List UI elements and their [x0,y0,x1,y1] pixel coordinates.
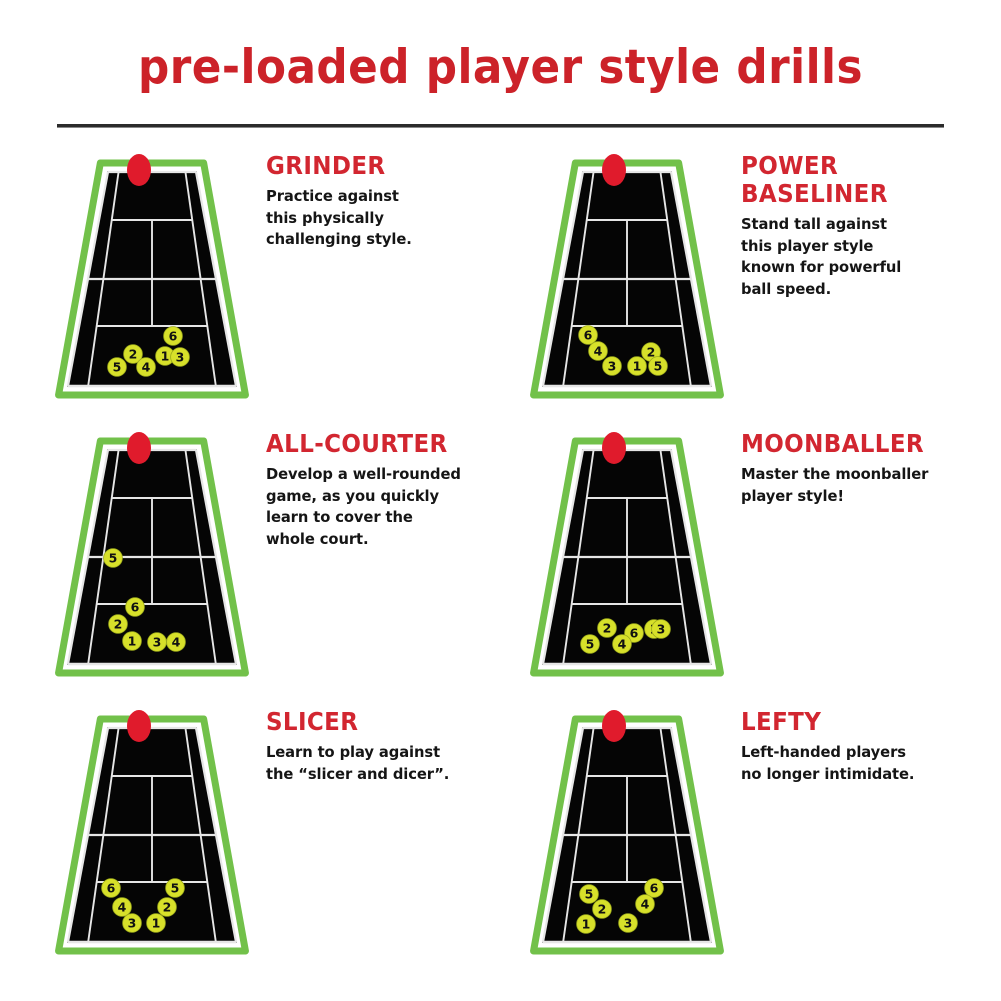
ball-marker: 4 [613,635,632,654]
ball-number: 3 [153,635,162,650]
ball-number: 3 [624,916,633,931]
court-power-baseliner[interactable]: 642315 [530,154,730,394]
drill-description-slicer: Learn to play against the “slicer and di… [266,742,494,785]
drill-heading-all-courter: ALL-COURTER [266,430,487,458]
ball-marker: 5 [649,357,668,376]
ball-marker: 3 [148,633,167,652]
ball-marker: 5 [166,879,185,898]
ball-number: 6 [584,328,593,343]
ball-number: 5 [654,359,663,374]
drill-card-slicer[interactable]: 654231SLICERLearn to play against the “s… [40,702,510,977]
ball-number: 5 [113,360,122,375]
ball-marker: 4 [589,342,608,361]
drill-heading-lefty: LEFTY [741,708,962,736]
ball-number: 4 [594,344,603,359]
court-slicer[interactable]: 654231 [55,710,255,950]
tennis-court-diagram: 621354 [55,154,255,394]
ball-number: 6 [630,626,639,641]
ball-number: 5 [585,887,594,902]
ball-marker: 3 [603,357,622,376]
target-marker-icon [602,710,626,742]
ball-marker: 2 [598,619,617,638]
court-all-courter[interactable]: 562134 [55,432,255,672]
ball-marker: 1 [123,632,142,651]
ball-number: 4 [142,360,151,375]
ball-number: 4 [172,635,181,650]
target-marker-icon [602,432,626,464]
ball-number: 2 [129,347,138,362]
drill-text-all-courter: ALL-COURTERDevelop a well-rounded game, … [266,430,506,550]
ball-marker: 5 [104,549,123,568]
drill-heading-slicer: SLICER [266,708,487,736]
ball-number: 1 [633,359,642,374]
drill-card-power-baseliner[interactable]: 642315POWER BASELINERStand tall against … [515,146,985,421]
drill-description-power-baseliner: Stand tall against this player style kno… [741,214,969,300]
tennis-court-diagram: 562134 [55,432,255,672]
drills-grid: 621354GRINDERPractice against this physi… [0,146,1001,986]
drill-description-lefty: Left-handed players no longer intimidate… [741,742,969,785]
ball-marker: 1 [147,914,166,933]
ball-marker: 3 [123,914,142,933]
ball-number: 1 [582,917,591,932]
ball-number: 4 [641,897,650,912]
ball-marker: 5 [108,358,127,377]
ball-marker: 6 [164,327,183,346]
drill-text-slicer: SLICERLearn to play against the “slicer … [266,708,506,785]
drill-heading-grinder: GRINDER [266,152,487,180]
page-title: pre-loaded player style drills [35,40,966,95]
ball-number: 1 [152,916,161,931]
title-divider [57,124,944,128]
ball-marker: 5 [580,885,599,904]
drill-card-lefty[interactable]: 562413LEFTYLeft-handed players no longer… [515,702,985,977]
ball-marker: 6 [126,598,145,617]
ball-marker: 3 [171,348,190,367]
ball-number: 2 [598,902,607,917]
drill-description-moonballer: Master the moonballer player style! [741,464,969,507]
ball-marker: 3 [652,620,671,639]
ball-number: 4 [118,900,127,915]
drill-text-moonballer: MOONBALLERMaster the moonballer player s… [741,430,981,507]
ball-marker: 4 [167,633,186,652]
drill-heading-moonballer: MOONBALLER [741,430,962,458]
ball-number: 3 [128,916,137,931]
court-lefty[interactable]: 562413 [530,710,730,950]
ball-marker: 2 [109,615,128,634]
ball-number: 1 [161,349,170,364]
drill-description-grinder: Practice against this physically challen… [266,186,494,251]
target-marker-icon [127,154,151,186]
ball-number: 6 [650,881,659,896]
drill-heading-power-baseliner: POWER BASELINER [741,152,962,208]
ball-number: 5 [109,551,118,566]
ball-marker: 2 [593,900,612,919]
ball-number: 2 [603,621,612,636]
tennis-court-diagram: 261354 [530,432,730,672]
ball-marker: 1 [628,357,647,376]
drill-text-grinder: GRINDERPractice against this physically … [266,152,506,251]
tennis-court-diagram: 642315 [530,154,730,394]
ball-number: 3 [608,359,617,374]
target-marker-icon [127,432,151,464]
ball-number: 6 [107,881,116,896]
drill-text-lefty: LEFTYLeft-handed players no longer intim… [741,708,981,785]
tennis-court-diagram: 562413 [530,710,730,950]
ball-number: 3 [657,622,666,637]
drill-card-moonballer[interactable]: 261354MOONBALLERMaster the moonballer pl… [515,424,985,699]
drill-description-all-courter: Develop a well-rounded game, as you quic… [266,464,494,550]
ball-number: 5 [586,637,595,652]
target-marker-icon [127,710,151,742]
ball-marker: 3 [619,914,638,933]
ball-number: 5 [171,881,180,896]
ball-number: 6 [131,600,140,615]
ball-marker: 4 [113,898,132,917]
ball-marker: 4 [137,358,156,377]
ball-number: 2 [114,617,123,632]
ball-marker: 6 [579,326,598,345]
ball-marker: 4 [636,895,655,914]
ball-marker: 6 [102,879,121,898]
ball-number: 3 [176,350,185,365]
drill-card-all-courter[interactable]: 562134ALL-COURTERDevelop a well-rounded … [40,424,510,699]
ball-number: 6 [169,329,178,344]
tennis-court-diagram: 654231 [55,710,255,950]
drill-text-power-baseliner: POWER BASELINERStand tall against this p… [741,152,981,300]
ball-marker: 2 [158,898,177,917]
ball-number: 4 [618,637,627,652]
ball-marker: 1 [577,915,596,934]
court-grinder[interactable]: 621354 [55,154,255,394]
ball-number: 2 [163,900,172,915]
drill-card-grinder[interactable]: 621354GRINDERPractice against this physi… [40,146,510,421]
ball-marker: 5 [581,635,600,654]
target-marker-icon [602,154,626,186]
ball-number: 1 [128,634,137,649]
court-moonballer[interactable]: 261354 [530,432,730,672]
